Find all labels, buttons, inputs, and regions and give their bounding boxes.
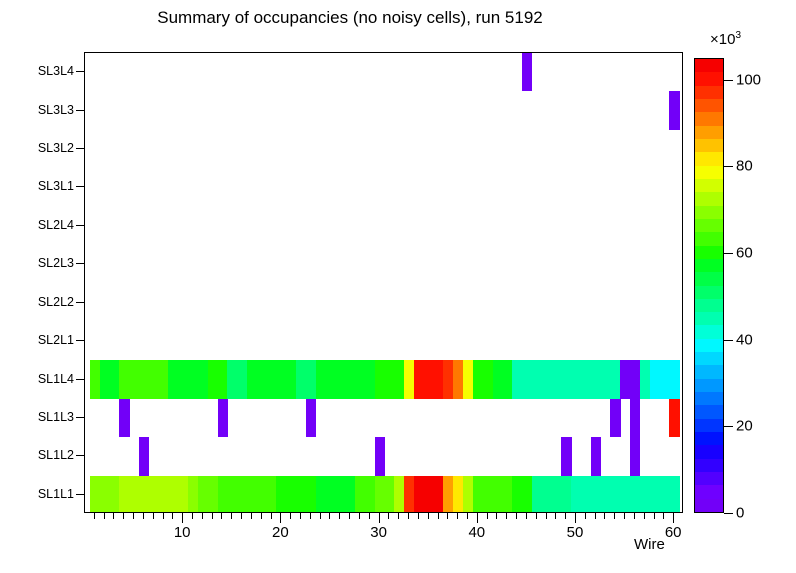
palette-tick (724, 426, 733, 427)
x-axis-minor-tick (418, 513, 419, 519)
y-axis-tick (76, 148, 84, 149)
palette-tick (724, 513, 733, 514)
y-axis-tick (76, 263, 84, 264)
x-axis-minor-tick (555, 513, 556, 519)
heatmap-cell (591, 437, 601, 475)
palette-tick (724, 253, 733, 254)
palette-exponent-base: ×10 (710, 31, 735, 48)
page-title: Summary of occupancies (no noisy cells),… (0, 8, 700, 28)
x-axis-minor-tick (565, 513, 566, 519)
y-axis-tick (76, 494, 84, 495)
heatmap-cell (630, 437, 640, 475)
x-axis-minor-tick (192, 513, 193, 519)
x-axis-minor-tick (663, 513, 664, 519)
x-axis-minor-tick (202, 513, 203, 519)
palette-tick (724, 80, 733, 81)
heatmap-cell (522, 53, 532, 91)
y-axis-tick (76, 455, 84, 456)
x-axis-minor-tick (221, 513, 222, 519)
palette-tick-label: 100 (736, 71, 761, 88)
palette-tick-label: 40 (736, 331, 753, 348)
heatmap-cell (610, 399, 620, 437)
x-axis-tick-label: 60 (665, 524, 682, 541)
x-axis-minor-tick (506, 513, 507, 519)
x-axis-minor-tick (300, 513, 301, 519)
x-axis-minor-tick (457, 513, 458, 519)
x-axis-minor-tick (271, 513, 272, 519)
y-axis-ticks (0, 52, 84, 513)
x-axis-minor-tick (654, 513, 655, 519)
palette-tick-label: 60 (736, 245, 753, 262)
y-axis-tick (76, 379, 84, 380)
x-axis-minor-tick (546, 513, 547, 519)
x-axis-minor-tick (438, 513, 439, 519)
y-axis-tick (76, 302, 84, 303)
x-axis-minor-tick (261, 513, 262, 519)
x-axis-title: Wire (634, 536, 665, 553)
x-axis-minor-tick (329, 513, 330, 519)
heatmap-cell (375, 437, 385, 475)
plot-frame[interactable] (84, 52, 683, 513)
x-axis-minor-tick (94, 513, 95, 519)
x-axis: 102030405060 (84, 513, 684, 573)
x-axis-minor-tick (143, 513, 144, 519)
x-axis-minor-tick (172, 513, 173, 519)
x-axis-minor-tick (388, 513, 389, 519)
x-axis-minor-tick (398, 513, 399, 519)
heatmap-cell (669, 476, 679, 513)
x-axis-major-tick (182, 513, 183, 523)
heatmap-cell (669, 91, 679, 129)
x-axis-minor-tick (496, 513, 497, 519)
x-axis-tick-label: 10 (174, 524, 191, 541)
x-axis-major-tick (575, 513, 576, 523)
y-axis-tick (76, 340, 84, 341)
x-axis-tick-label: 20 (272, 524, 289, 541)
x-axis-minor-tick (595, 513, 596, 519)
heatmap-cell (669, 360, 679, 398)
color-palette-axis: 020406080100 (694, 58, 794, 513)
x-axis-minor-tick (624, 513, 625, 519)
x-axis-minor-tick (428, 513, 429, 519)
x-axis-minor-tick (614, 513, 615, 519)
x-axis-minor-tick (526, 513, 527, 519)
x-axis-minor-tick (536, 513, 537, 519)
x-axis-minor-tick (241, 513, 242, 519)
x-axis-minor-tick (163, 513, 164, 519)
y-axis-tick (76, 186, 84, 187)
x-axis-minor-tick (487, 513, 488, 519)
x-axis-tick-label: 50 (567, 524, 584, 541)
heatmap-cell (669, 399, 679, 437)
x-axis-minor-tick (644, 513, 645, 519)
heatmap-cells (85, 53, 682, 512)
x-axis-minor-tick (467, 513, 468, 519)
palette-tick-label: 20 (736, 418, 753, 435)
heatmap-cell (218, 399, 228, 437)
heatmap-cell (306, 399, 316, 437)
x-axis-minor-tick (231, 513, 232, 519)
x-axis-tick-label: 30 (370, 524, 387, 541)
x-axis-minor-tick (113, 513, 114, 519)
x-axis-minor-tick (153, 513, 154, 519)
root-canvas: Summary of occupancies (no noisy cells),… (0, 0, 796, 572)
x-axis-minor-tick (133, 513, 134, 519)
x-axis-minor-tick (369, 513, 370, 519)
y-axis-tick (76, 71, 84, 72)
x-axis-minor-tick (123, 513, 124, 519)
x-axis-minor-tick (290, 513, 291, 519)
palette-exponent-label: ×103 (710, 30, 741, 48)
x-axis-minor-tick (251, 513, 252, 519)
heatmap-cell (630, 399, 640, 437)
x-axis-minor-tick (408, 513, 409, 519)
palette-exponent-power: 3 (735, 30, 741, 41)
x-axis-major-tick (280, 513, 281, 523)
x-axis-minor-tick (349, 513, 350, 519)
x-axis-minor-tick (320, 513, 321, 519)
x-axis-minor-tick (516, 513, 517, 519)
heatmap-cell (139, 437, 149, 475)
x-axis-major-tick (477, 513, 478, 523)
x-axis-minor-tick (339, 513, 340, 519)
x-axis-major-tick (379, 513, 380, 523)
x-axis-minor-tick (585, 513, 586, 519)
x-axis-minor-tick (447, 513, 448, 519)
x-axis-minor-tick (634, 513, 635, 519)
x-axis-minor-tick (359, 513, 360, 519)
x-axis-minor-tick (212, 513, 213, 519)
y-axis-tick (76, 225, 84, 226)
y-axis-tick (76, 417, 84, 418)
x-axis-minor-tick (104, 513, 105, 519)
palette-tick-label: 0 (736, 505, 744, 522)
heatmap-cell (119, 399, 129, 437)
x-axis-minor-tick (604, 513, 605, 519)
heatmap-cell (561, 437, 571, 475)
palette-tick-label: 80 (736, 158, 753, 175)
palette-tick (724, 166, 733, 167)
x-axis-tick-label: 40 (468, 524, 485, 541)
x-axis-major-tick (673, 513, 674, 523)
y-axis-tick (76, 110, 84, 111)
palette-tick (724, 340, 733, 341)
x-axis-minor-tick (310, 513, 311, 519)
